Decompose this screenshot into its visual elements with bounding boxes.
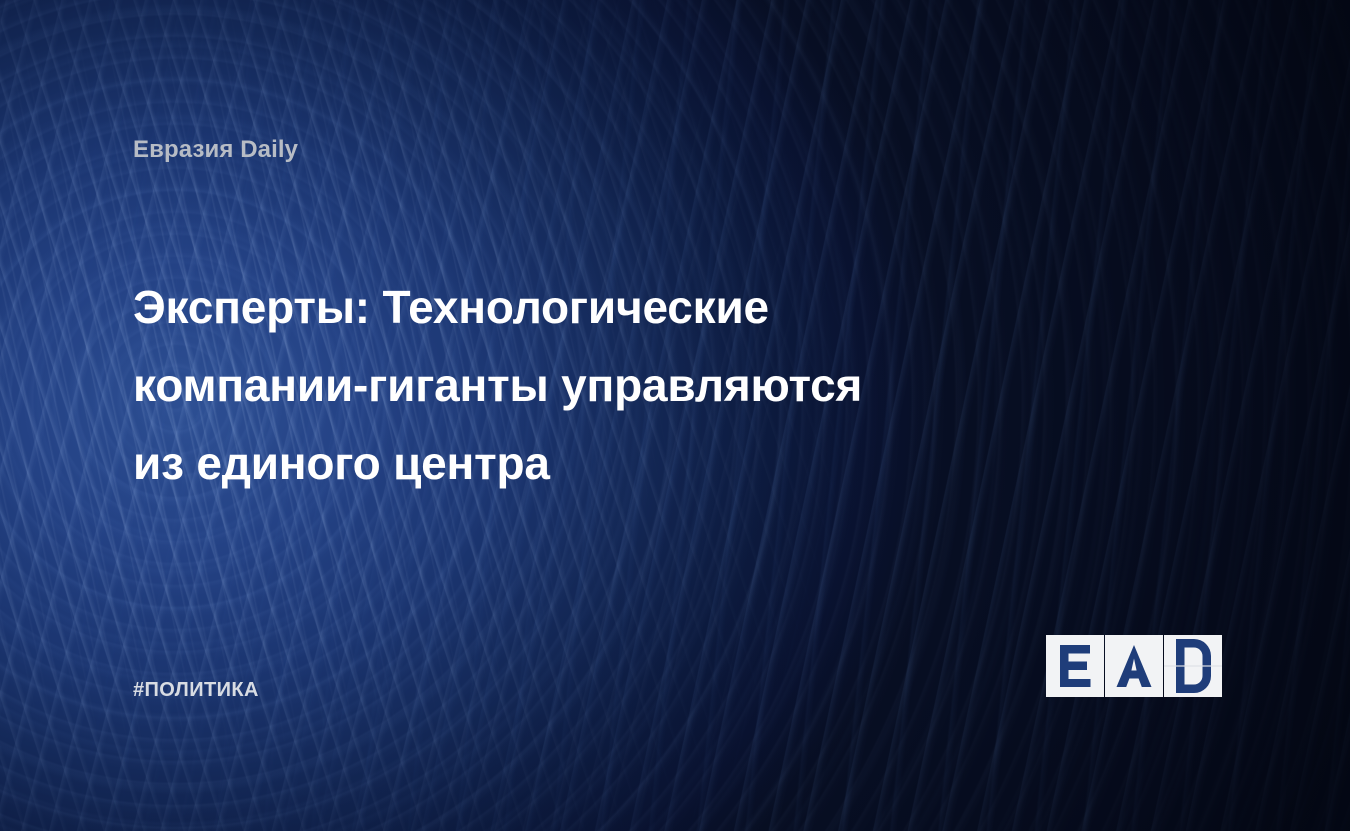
- letter-e-icon: [1046, 635, 1104, 697]
- brand-name: Евразия Daily: [133, 136, 298, 164]
- headline-line-2: компании-гиганты управляются: [133, 346, 1063, 424]
- headline-line-1: Эксперты: Технологические: [133, 268, 1063, 346]
- letter-d-icon: [1164, 635, 1222, 697]
- headline-line-3: из единого центра: [133, 424, 1063, 502]
- share-card: Евразия Daily Эксперты: Технологические …: [0, 0, 1350, 831]
- page-title: Эксперты: Технологические компании-гиган…: [133, 268, 1063, 502]
- ead-logo: [1046, 635, 1222, 697]
- logo-tile-d: [1164, 635, 1222, 697]
- logo-tile-e: [1046, 635, 1104, 697]
- logo-tile-a: [1105, 635, 1163, 697]
- letter-a-icon: [1105, 635, 1163, 697]
- card-content: Евразия Daily Эксперты: Технологические …: [0, 0, 1350, 831]
- category-hashtag[interactable]: #ПОЛИТИКА: [133, 679, 259, 702]
